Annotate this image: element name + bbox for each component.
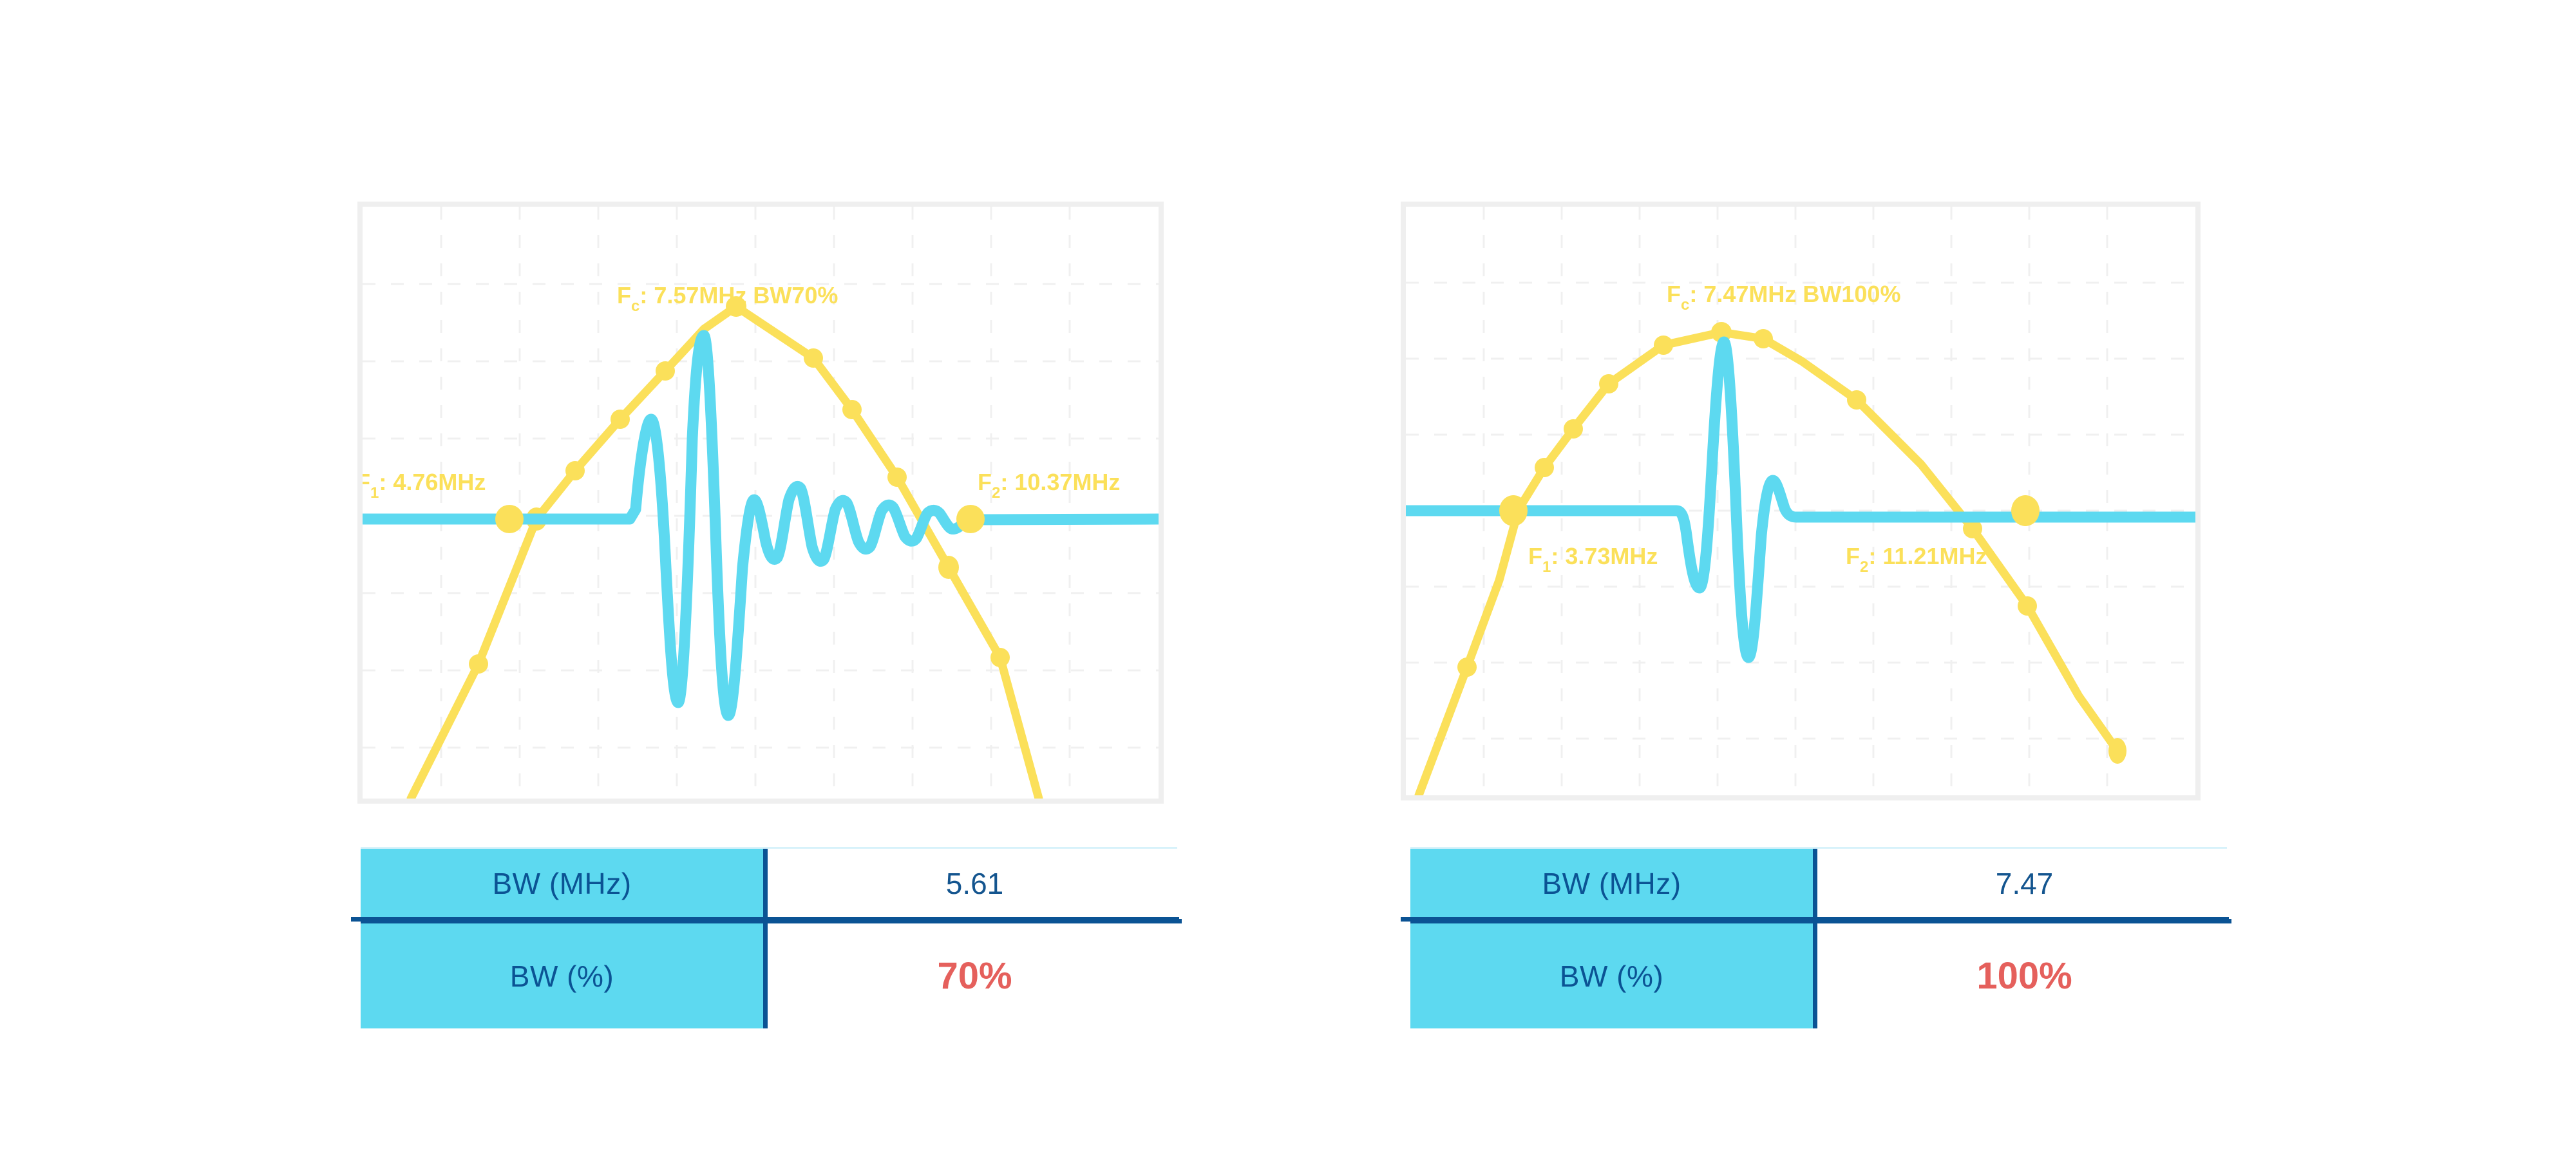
row-value-bw-pct-right: 100% xyxy=(1815,922,2232,1029)
f1-sub-right: 1 xyxy=(1542,558,1551,576)
spectrum-curve-right xyxy=(1419,332,2117,795)
fc-prefix-right: F xyxy=(1667,281,1681,307)
panel-right: Fc: 7.47MHz BW100% F1: 3.73MHz F2: 11.21… xyxy=(0,0,2576,1154)
f1-prefix-right: F xyxy=(1528,543,1542,569)
chart-right-svg: Fc: 7.47MHz BW100% F1: 3.73MHz F2: 11.21… xyxy=(1406,207,2195,795)
fc-sub-right: c xyxy=(1681,296,1689,314)
table-row: BW (MHz) 7.47 xyxy=(1410,848,2231,922)
f1-text-right: : 3.73MHz xyxy=(1551,543,1658,569)
bw-table-right: BW (MHz) 7.47 BW (%) 100% xyxy=(1410,848,2231,1028)
annotation-f1-right: F1: 3.73MHz xyxy=(1528,543,1658,576)
row-label-bw-pct-right: BW (%) xyxy=(1410,922,1815,1029)
marker-f1-right xyxy=(1499,495,1528,526)
row-label-bw-mhz-right: BW (MHz) xyxy=(1410,848,1815,922)
table-row: BW (%) 100% xyxy=(1410,922,2231,1029)
f2-prefix-right: F xyxy=(1846,543,1860,569)
row-value-bw-mhz-right: 7.47 xyxy=(1815,848,2232,922)
fc-text-right: : 7.47MHz BW100% xyxy=(1689,281,1900,307)
table-midrule-right xyxy=(1401,917,2229,922)
annotation-f2-right: F2: 11.21MHz xyxy=(1846,543,1987,576)
table-topline-right xyxy=(1410,847,2227,849)
chart-frame-right: Fc: 7.47MHz BW100% F1: 3.73MHz F2: 11.21… xyxy=(1401,202,2201,800)
marker-f2-right xyxy=(2011,495,2040,526)
f2-text-right: : 11.21MHz xyxy=(1868,543,1987,569)
f2-sub-right: 2 xyxy=(1860,558,1868,576)
bw-table-right-wrap: BW (MHz) 7.47 BW (%) 100% xyxy=(1410,848,2231,1028)
annotation-fc-right: Fc: 7.47MHz BW100% xyxy=(1667,281,1900,314)
